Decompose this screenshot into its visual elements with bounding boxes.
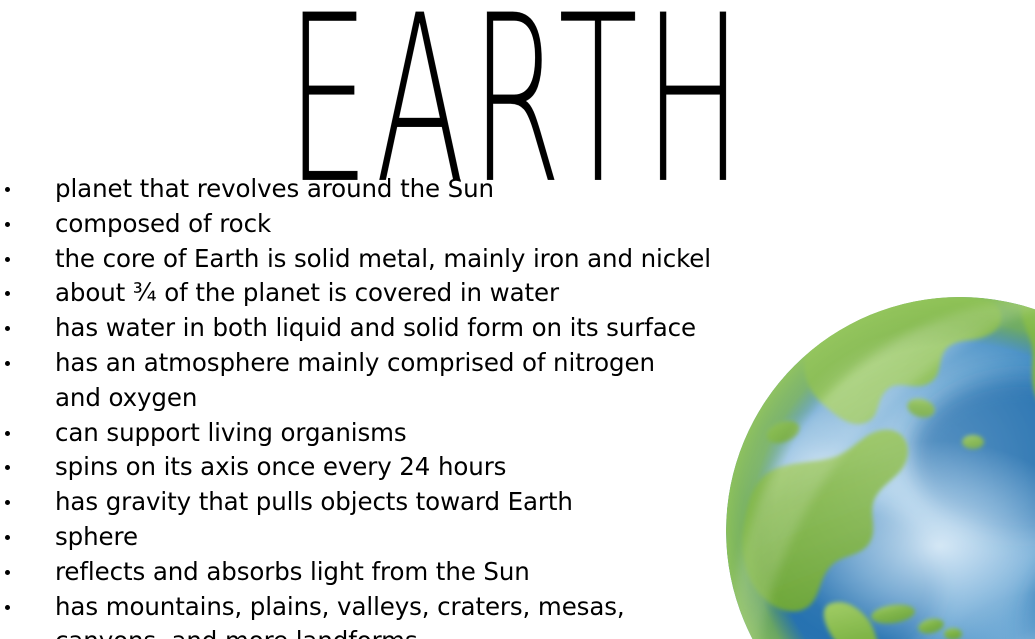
bullet-dot-icon xyxy=(5,361,10,366)
globe-sphere xyxy=(726,296,1035,639)
list-item: has water in both liquid and solid form … xyxy=(0,311,760,346)
ocean-highlight-main xyxy=(790,441,1035,639)
list-item-label: sphere xyxy=(55,520,760,555)
bullet-dot-icon xyxy=(5,570,10,575)
earth-globe-illustration xyxy=(725,296,1035,639)
list-item: the core of Earth is solid metal, mainly… xyxy=(0,242,760,277)
bullet-dot-icon xyxy=(5,535,10,540)
land-northern-europe xyxy=(1021,296,1035,421)
bullet-dot-icon xyxy=(5,257,10,262)
landmasses xyxy=(742,296,1035,639)
bullet-dot-icon xyxy=(5,291,10,296)
land-small-islands xyxy=(764,396,984,449)
list-item-label: can support living organisms xyxy=(55,416,760,451)
ocean-base xyxy=(726,297,1035,639)
list-item: planet that revolves around the Sun xyxy=(0,172,760,207)
list-item-label: spins on its axis once every 24 hours xyxy=(55,450,760,485)
list-item-label: composed of rock xyxy=(55,207,760,242)
list-item: and oxygen xyxy=(0,381,760,416)
list-item-label: canyons, and more landforms xyxy=(55,624,760,639)
list-item: spins on its axis once every 24 hours xyxy=(0,450,760,485)
fact-list: planet that revolves around the Suncompo… xyxy=(0,172,760,639)
list-item-label: has mountains, plains, valleys, craters,… xyxy=(55,590,760,625)
bullet-dot-icon xyxy=(5,326,10,331)
land-greenland xyxy=(804,296,1002,424)
globe-rim-green xyxy=(726,297,1035,639)
list-item-label: has water in both liquid and solid form … xyxy=(55,311,760,346)
list-item: sphere xyxy=(0,520,760,555)
list-item: composed of rock xyxy=(0,207,760,242)
list-item-label: has gravity that pulls objects toward Ea… xyxy=(55,485,760,520)
list-item-label: planet that revolves around the Sun xyxy=(55,172,760,207)
ocean-deep-regions xyxy=(750,376,1035,639)
list-item: about ¾ of the planet is covered in wate… xyxy=(0,276,760,311)
bullet-dot-icon xyxy=(5,465,10,470)
bullet-dot-icon xyxy=(5,500,10,505)
list-item-label: the core of Earth is solid metal, mainly… xyxy=(55,242,760,277)
list-item: reflects and absorbs light from the Sun xyxy=(0,555,760,590)
bullet-dot-icon xyxy=(5,431,10,436)
land-caribbean-islands xyxy=(870,602,962,639)
list-item-label: and oxygen xyxy=(55,381,760,416)
bullet-dot-icon xyxy=(5,222,10,227)
list-item: canyons, and more landforms xyxy=(0,624,760,639)
ocean-highlight-north xyxy=(735,411,905,531)
bullet-dot-icon xyxy=(5,605,10,610)
list-item-label: has an atmosphere mainly comprised of ni… xyxy=(55,346,760,381)
list-item-label: reflects and absorbs light from the Sun xyxy=(55,555,760,590)
ocean-highlight-south xyxy=(940,591,1035,639)
bullet-dot-icon xyxy=(5,187,10,192)
globe-shading xyxy=(726,297,1035,639)
list-item: has gravity that pulls objects toward Ea… xyxy=(0,485,760,520)
list-item: has an atmosphere mainly comprised of ni… xyxy=(0,346,760,381)
list-item: has mountains, plains, valleys, craters,… xyxy=(0,590,760,625)
land-central-america xyxy=(824,602,923,639)
globe-sheen xyxy=(735,298,1035,639)
slide-canvas: EARTH planet that revolves around the Su… xyxy=(0,0,1035,639)
list-item: can support living organisms xyxy=(0,416,760,451)
list-item-label: about ¾ of the planet is covered in wate… xyxy=(55,276,760,311)
land-north-america xyxy=(742,430,908,612)
